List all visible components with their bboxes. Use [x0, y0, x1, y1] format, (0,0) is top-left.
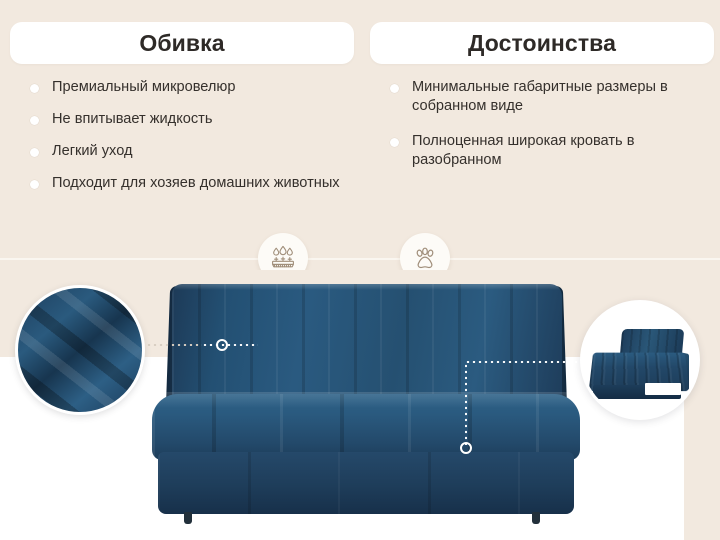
- paw-print-icon: [410, 243, 440, 273]
- avito-watermark: Avito: [622, 506, 680, 521]
- leader-line-upholstery-inner: [202, 344, 258, 346]
- column-title-upholstery: Обивка: [139, 30, 224, 57]
- column-title-pill-advantages: Достоинства: [370, 22, 714, 64]
- bullet-text: Премиальный микровелюр: [52, 78, 236, 97]
- column-title-pill-upholstery: Обивка: [10, 22, 354, 64]
- list-item: Полноценная широкая кровать в разобранно…: [374, 132, 718, 170]
- marker-upholstery[interactable]: [216, 339, 228, 351]
- sofa-unfolded[interactable]: [580, 300, 700, 420]
- product-card: Обивка Премиальный микровелюр Не впитыва…: [0, 0, 720, 540]
- water-repellent-icon: [268, 243, 298, 273]
- sofa-leg-left: [184, 512, 192, 524]
- sofa-backrest-highlight: [174, 284, 560, 290]
- bullet-text: Минимальные габаритные размеры в собранн…: [412, 78, 718, 116]
- column-title-advantages: Достоинства: [468, 30, 616, 57]
- bed-drawer-gap: [645, 383, 681, 395]
- bullet-dot-icon: [30, 180, 39, 189]
- fabric-closeup[interactable]: [15, 285, 145, 415]
- list-item: Не впитывает жидкость: [14, 110, 358, 129]
- list-item: Премиальный микровелюр: [14, 78, 358, 97]
- sofa-leg-right: [532, 512, 540, 524]
- bullet-text: Полноценная широкая кровать в разобранно…: [412, 132, 718, 170]
- bullet-dot-icon: [30, 116, 39, 125]
- features-panel: Обивка Премиальный микровелюр Не впитыва…: [0, 0, 720, 270]
- bullet-text: Легкий уход: [52, 142, 133, 161]
- avito-logo-icon: [622, 507, 639, 521]
- bullet-list-advantages: Минимальные габаритные размеры в собранн…: [374, 78, 718, 186]
- sofa-base: [158, 452, 574, 514]
- sofa-seat-highlight: [152, 392, 580, 408]
- leader-line-seat-vertical: [465, 363, 467, 445]
- section-divider: [0, 258, 720, 260]
- feature-column-upholstery: Обивка Премиальный микровелюр Не впитыва…: [10, 0, 358, 270]
- feature-column-advantages: Достоинства Минимальные габаритные разме…: [370, 0, 718, 270]
- product-photo: [0, 270, 720, 540]
- leader-line-seat-horizontal: [465, 361, 583, 363]
- bullet-dot-icon: [30, 84, 39, 93]
- list-item: Минимальные габаритные размеры в собранн…: [374, 78, 718, 116]
- bullet-list-upholstery: Премиальный микровелюр Не впитывает жидк…: [14, 78, 358, 206]
- bullet-dot-icon: [390, 138, 399, 147]
- sofa-main: [150, 284, 582, 530]
- list-item: Легкий уход: [14, 142, 358, 161]
- avito-wordmark: Avito: [643, 506, 680, 521]
- leader-line-upholstery-outer: [146, 344, 202, 346]
- list-item: Подходит для хозяев домашних животных: [14, 174, 358, 193]
- bullet-text: Не впитывает жидкость: [52, 110, 212, 129]
- marker-seat[interactable]: [460, 442, 472, 454]
- bullet-text: Подходит для хозяев домашних животных: [52, 174, 340, 193]
- bullet-dot-icon: [30, 148, 39, 157]
- bullet-dot-icon: [390, 84, 399, 93]
